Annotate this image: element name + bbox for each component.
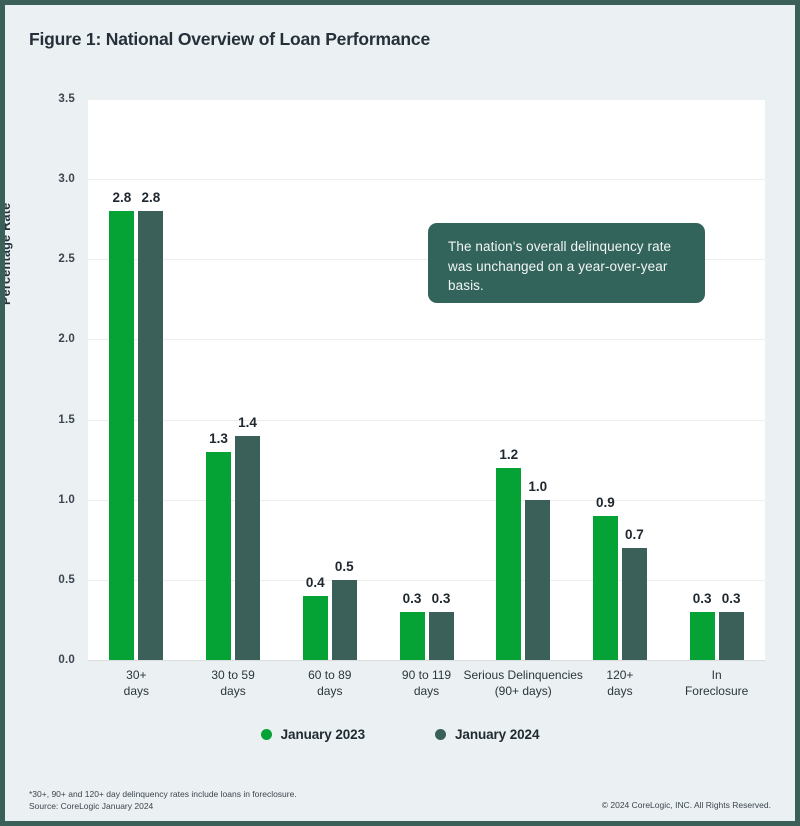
bar-value-label: 0.4 xyxy=(306,575,325,590)
x-axis-category-label: InForeclosure xyxy=(685,667,748,699)
legend-color-swatch-icon xyxy=(435,729,446,740)
x-axis-label-line: days xyxy=(402,683,451,699)
bar-value-label: 0.3 xyxy=(432,591,451,606)
bar xyxy=(429,612,454,660)
plot-area: 2.82.81.31.40.40.50.30.31.21.00.90.70.30… xyxy=(88,99,765,660)
x-axis-category-labels: 30+days30 to 59days60 to 89days90 to 119… xyxy=(88,667,765,713)
legend: January 2023January 2024 xyxy=(5,727,795,742)
gridline xyxy=(88,500,765,501)
bar xyxy=(138,211,163,660)
x-axis-label-line: days xyxy=(211,683,254,699)
x-axis-label-line: (90+ days) xyxy=(464,683,583,699)
legend-item[interactable]: January 2024 xyxy=(435,727,539,742)
x-axis-label-line: 60 to 89 xyxy=(308,667,351,683)
bar xyxy=(332,580,357,660)
gridline xyxy=(88,660,765,661)
x-axis-label-line: days xyxy=(308,683,351,699)
bar xyxy=(235,436,260,660)
bar xyxy=(496,468,521,660)
bar-value-label: 0.3 xyxy=(722,591,741,606)
y-axis-tick-labels: 0.00.51.01.52.02.53.03.5 xyxy=(5,99,83,660)
bar xyxy=(400,612,425,660)
bar xyxy=(593,516,618,660)
x-axis-label-line: 30 to 59 xyxy=(211,667,254,683)
y-axis-title: Percentage Rate xyxy=(0,203,13,305)
x-axis-label-line: 90 to 119 xyxy=(402,667,451,683)
bar xyxy=(719,612,744,660)
x-axis-category-label: 120+days xyxy=(606,667,633,699)
callout-box: The nation's overall delinquency rate wa… xyxy=(428,223,705,303)
x-axis-label-line: Foreclosure xyxy=(685,683,748,699)
y-axis-tick-label: 1.0 xyxy=(58,494,75,506)
y-axis-tick-label: 3.0 xyxy=(58,173,75,185)
y-axis-tick-label: 1.5 xyxy=(58,414,75,426)
footnote-line-1: *30+, 90+ and 120+ day delinquency rates… xyxy=(29,788,297,800)
y-axis-tick-label: 0.0 xyxy=(58,654,75,666)
bar xyxy=(303,596,328,660)
y-axis-tick-label: 3.5 xyxy=(58,93,75,105)
bar xyxy=(690,612,715,660)
bar xyxy=(525,500,550,660)
x-axis-label-line: days xyxy=(124,683,149,699)
x-axis-category-label: 30+days xyxy=(124,667,149,699)
bar-value-label: 0.9 xyxy=(596,495,615,510)
x-axis-label-line: 120+ xyxy=(606,667,633,683)
bar xyxy=(622,548,647,660)
bar xyxy=(109,211,134,660)
legend-color-swatch-icon xyxy=(261,729,272,740)
gridline xyxy=(88,339,765,340)
footnote: *30+, 90+ and 120+ day delinquency rates… xyxy=(29,788,297,812)
y-axis-tick-label: 2.5 xyxy=(58,253,75,265)
x-axis-category-label: 90 to 119days xyxy=(402,667,451,699)
x-axis-label-line: days xyxy=(606,683,633,699)
gridline xyxy=(88,99,765,100)
bar-value-label: 0.3 xyxy=(693,591,712,606)
x-axis-label-line: In xyxy=(685,667,748,683)
gridline xyxy=(88,580,765,581)
x-axis-label-line: 30+ xyxy=(124,667,149,683)
bar-value-label: 0.3 xyxy=(403,591,422,606)
x-axis-label-line: Serious Delinquencies xyxy=(464,667,583,683)
x-axis-category-label: 60 to 89days xyxy=(308,667,351,699)
bar-value-label: 1.4 xyxy=(238,415,257,430)
gridline xyxy=(88,420,765,421)
bar-value-label: 1.2 xyxy=(499,447,518,462)
bar-value-label: 0.5 xyxy=(335,559,354,574)
legend-item[interactable]: January 2023 xyxy=(261,727,365,742)
bar-value-label: 2.8 xyxy=(112,190,131,205)
legend-label: January 2024 xyxy=(455,727,539,742)
y-axis-tick-label: 2.0 xyxy=(58,333,75,345)
bar-value-label: 1.3 xyxy=(209,431,228,446)
bar-value-label: 0.7 xyxy=(625,527,644,542)
y-axis-tick-label: 0.5 xyxy=(58,574,75,586)
bar-value-label: 2.8 xyxy=(141,190,160,205)
footnote-line-2: Source: CoreLogic January 2024 xyxy=(29,800,297,812)
callout-text: The nation's overall delinquency rate wa… xyxy=(448,239,671,293)
x-axis-category-label: 30 to 59days xyxy=(211,667,254,699)
gridline xyxy=(88,179,765,180)
legend-label: January 2023 xyxy=(281,727,365,742)
figure-card: Figure 1: National Overview of Loan Perf… xyxy=(0,0,800,826)
bar xyxy=(206,452,231,660)
x-axis-category-label: Serious Delinquencies(90+ days) xyxy=(464,667,583,699)
page-title: Figure 1: National Overview of Loan Perf… xyxy=(29,29,430,50)
bar-value-label: 1.0 xyxy=(528,479,547,494)
copyright: © 2024 CoreLogic, INC. All Rights Reserv… xyxy=(602,800,771,810)
